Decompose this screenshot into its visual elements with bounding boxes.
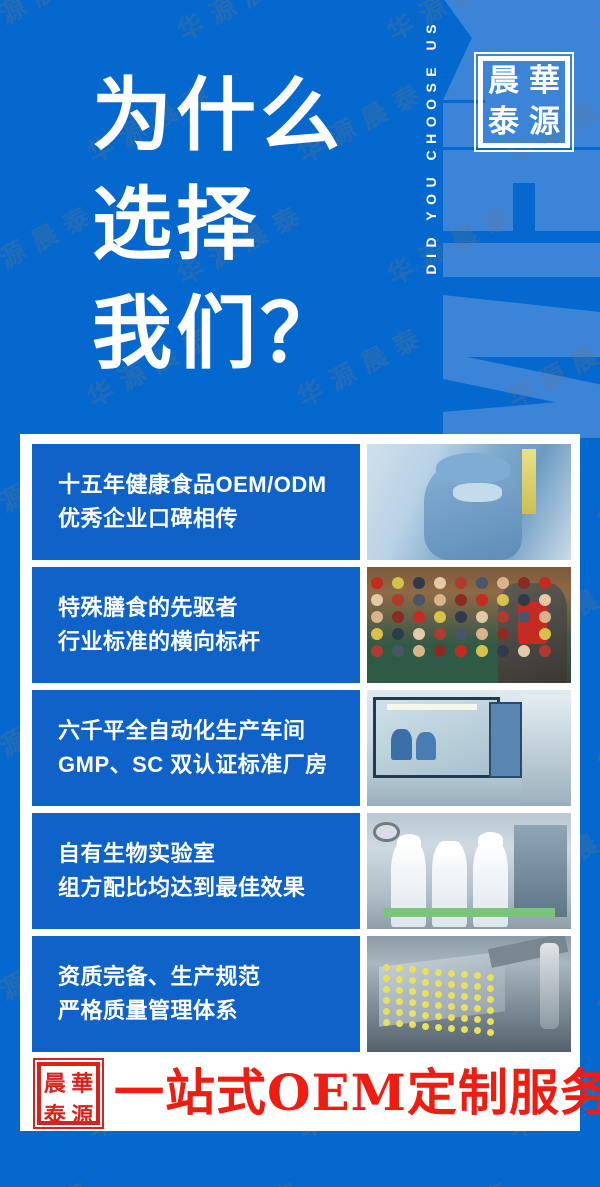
watermark-text: 华源晨泰 — [590, 0, 600, 49]
watermark-text: 华源晨泰 — [0, 558, 14, 658]
banner-slogan: 一站式OEM定制服务 — [114, 1068, 600, 1118]
watermark-text: 华源晨泰 — [0, 1046, 14, 1146]
bg-shape-11 — [443, 398, 600, 438]
seal-red-char-bottom-right: 源 — [71, 1098, 93, 1130]
card-text-block: 六千平全自动化生产车间 GMP、SC 双认证标准厂房 — [32, 690, 360, 806]
lab-technician-photo — [367, 444, 571, 560]
watermark-text: 华源晨泰 — [380, 0, 525, 49]
feature-card-list: 十五年健康食品OEM/ODM 优秀企业口碑相传 特殊膳食的先驱者 行业标准的横向… — [32, 444, 571, 1059]
vertical-english-caption: DID YOU CHOOSE US — [417, 18, 445, 418]
watermark-text: 华源晨泰 — [170, 1168, 315, 1187]
conference-audience-photo — [367, 567, 571, 683]
watermark-text: 华源晨泰 — [380, 1168, 525, 1187]
feature-card[interactable]: 资质完备、生产规范 严格质量管理体系 — [32, 936, 571, 1052]
page-title: 为什么 选择 我们？ — [92, 62, 344, 388]
watermark-text: 华源晨泰 — [170, 0, 315, 49]
card-text-block: 资质完备、生产规范 严格质量管理体系 — [32, 936, 360, 1052]
seal-char-top-right: 華 — [529, 66, 560, 97]
watermark-text: 华源晨泰 — [0, 314, 14, 414]
card-line-1: 十五年健康食品OEM/ODM — [58, 468, 352, 502]
watermark-text: 华源晨泰 — [590, 680, 600, 780]
title-line-3: 我们？ — [92, 280, 344, 389]
production-line-staff-photo — [367, 813, 571, 929]
card-text-block: 十五年健康食品OEM/ODM 优秀企业口碑相传 — [32, 444, 360, 560]
brand-seal-icon: 晨 華 泰 源 — [478, 56, 570, 148]
watermark-text: 华源晨泰 — [500, 314, 600, 414]
watermark-text: 华源晨泰 — [0, 0, 104, 49]
poster-root: 为什么 选择 我们？ DID YOU CHOOSE US 晨 華 泰 源 十五年… — [0, 0, 600, 1187]
card-line-2: 行业标准的横向标杆 — [58, 625, 352, 659]
bg-shape-9 — [443, 295, 600, 357]
watermark-text: 华源晨泰 — [590, 436, 600, 536]
card-text-block: 自有生物实验室 组方配比均达到最佳效果 — [32, 813, 360, 929]
card-text-block: 特殊膳食的先驱者 行业标准的横向标杆 — [32, 567, 360, 683]
seal-char-bottom-right: 源 — [529, 107, 560, 138]
feature-card[interactable]: 十五年健康食品OEM/ODM 优秀企业口碑相传 — [32, 444, 571, 560]
watermark-text: 华源晨泰 — [380, 192, 525, 292]
watermark-text: 华源晨泰 — [0, 70, 14, 170]
bg-shape-1 — [443, 0, 600, 38]
bg-shape-5 — [443, 150, 600, 183]
card-line-2: GMP、SC 双认证标准厂房 — [58, 748, 352, 782]
card-line-2: 优秀企业口碑相传 — [58, 502, 352, 536]
seal-char-top-left: 晨 — [488, 66, 519, 97]
watermark-text: 华源晨泰 — [0, 1168, 104, 1187]
card-line-1: 六千平全自动化生产车间 — [58, 714, 352, 748]
vertical-english-text: DID YOU CHOOSE US — [423, 18, 439, 275]
clean-room-corridor-photo — [367, 690, 571, 806]
brand-seal-red-icon: 晨 華 泰 源 — [37, 1062, 100, 1125]
seal-red-char-top-left: 晨 — [44, 1066, 66, 1098]
feature-card[interactable]: 六千平全自动化生产车间 GMP、SC 双认证标准厂房 — [32, 690, 571, 806]
card-line-2: 严格质量管理体系 — [58, 994, 352, 1028]
watermark-text: 华源晨泰 — [590, 1168, 600, 1187]
watermark-text: 华源晨泰 — [590, 192, 600, 292]
feature-card[interactable]: 特殊膳食的先驱者 行业标准的横向标杆 — [32, 567, 571, 683]
card-line-1: 资质完备、生产规范 — [58, 960, 352, 994]
bg-shape-10 — [443, 352, 600, 412]
card-line-1: 自有生物实验室 — [58, 837, 352, 871]
seal-red-char-bottom-left: 泰 — [44, 1098, 66, 1130]
bg-shape-7 — [535, 183, 600, 231]
card-line-1: 特殊膳食的先驱者 — [58, 591, 352, 625]
feature-card[interactable]: 自有生物实验室 组方配比均达到最佳效果 — [32, 813, 571, 929]
bg-shape-6 — [443, 183, 513, 231]
card-line-2: 组方配比均达到最佳效果 — [58, 871, 352, 905]
bottom-banner: 晨 華 泰 源 一站式OEM定制服务 — [20, 1055, 580, 1131]
seal-red-char-top-right: 華 — [71, 1066, 93, 1098]
watermark-text: 华源晨泰 — [0, 192, 104, 292]
tablet-packaging-machine-photo — [367, 936, 571, 1052]
title-line-2: 选择 — [92, 171, 344, 280]
watermark-text: 华源晨泰 — [0, 802, 14, 902]
title-line-1: 为什么 — [92, 62, 344, 171]
seal-char-bottom-left: 泰 — [488, 107, 519, 138]
bg-shape-8 — [443, 243, 600, 277]
watermark-text: 华源晨泰 — [590, 924, 600, 1024]
